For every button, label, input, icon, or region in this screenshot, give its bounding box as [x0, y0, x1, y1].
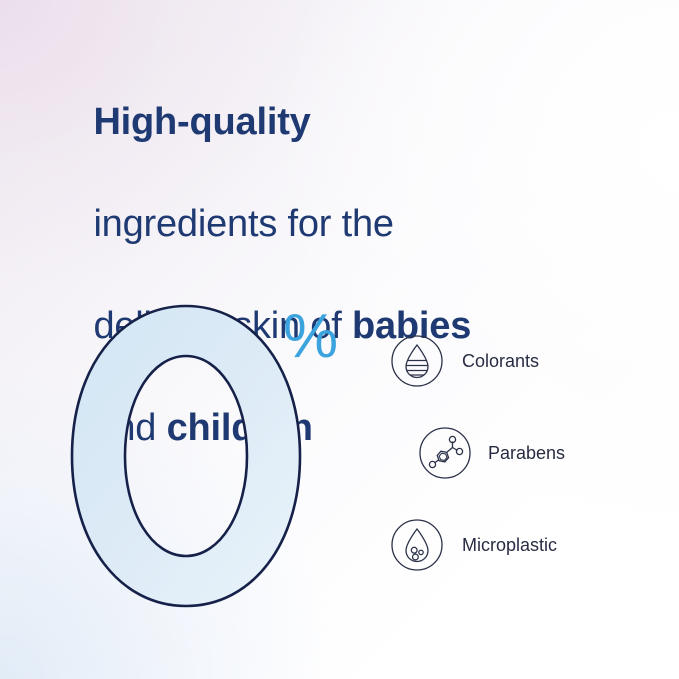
list-item-microplastic: Microplastic	[390, 518, 557, 572]
droplet-microbeads-icon	[390, 518, 444, 572]
headline-line-2: ingredients for the	[93, 203, 393, 245]
headline-line-1: High-quality	[93, 101, 310, 143]
list-item-label: Parabens	[488, 443, 565, 464]
molecule-icon	[418, 426, 472, 480]
list-item-label: Microplastic	[462, 535, 557, 556]
percent-symbol: %	[283, 306, 336, 368]
promo-graphic: High-quality ingredients for the delicat…	[0, 0, 679, 679]
zero-numeral-path	[72, 306, 300, 606]
list-item-parabens: Parabens	[418, 426, 565, 480]
droplet-stripes-icon	[390, 334, 444, 388]
list-item-label: Colorants	[462, 351, 539, 372]
list-item-colorants: Colorants	[390, 334, 539, 388]
zero-numeral-graphic	[56, 298, 316, 614]
